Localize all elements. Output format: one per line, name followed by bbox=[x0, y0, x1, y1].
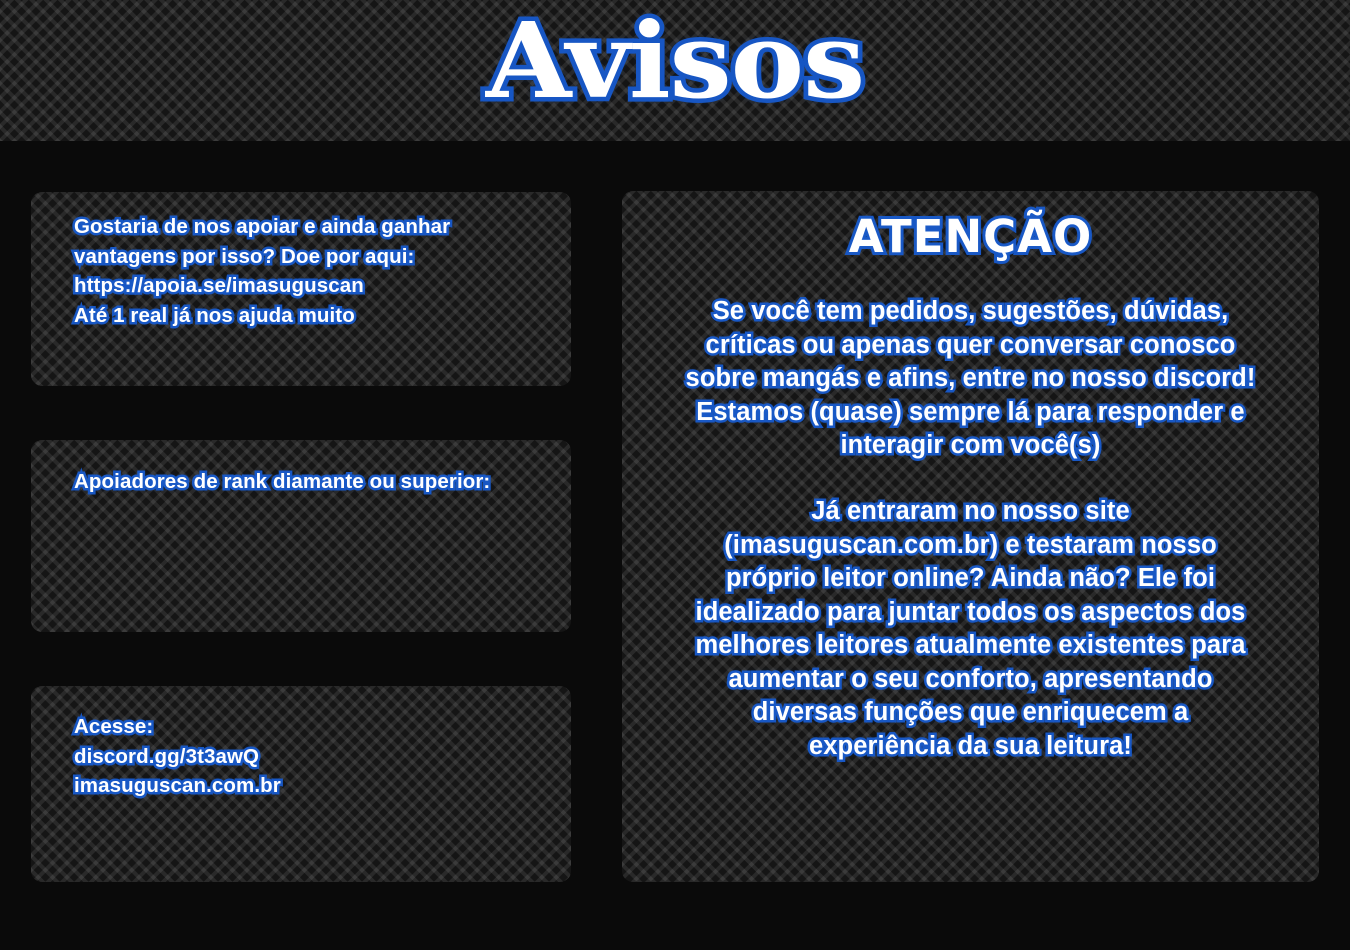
attention-p1-line-1: Se você tem pedidos, sugestões, dúvidas, bbox=[640, 295, 1301, 329]
attention-p2-line-5: melhores leitores atualmente existentes … bbox=[640, 629, 1301, 663]
backers-text-block: Apoiadores de rank diamante ou superior: bbox=[74, 467, 555, 497]
support-panel: Gostaria de nos apoiar e ainda ganhar va… bbox=[31, 192, 571, 386]
page-title: Avisos bbox=[0, 2, 1350, 120]
attention-p1-line-4: Estamos (quase) sempre lá para responder… bbox=[640, 396, 1301, 430]
attention-p1-line-3: sobre mangás e afins, entre no nosso dis… bbox=[640, 362, 1301, 396]
access-links-panel: Acesse: discord.gg/3t3awQ imasuguscan.co… bbox=[31, 686, 571, 882]
attention-paragraph-2: Já entraram no nosso site (imasuguscan.c… bbox=[640, 495, 1301, 763]
attention-p2-line-7: diversas funções que enriquecem a bbox=[640, 696, 1301, 730]
attention-panel: ATENÇÃO Se você tem pedidos, sugestões, … bbox=[622, 191, 1319, 882]
announcements-page: Avisos Gostaria de nos apoiar e ainda ga… bbox=[0, 0, 1350, 950]
diamond-backers-panel: Apoiadores de rank diamante ou superior: bbox=[31, 440, 571, 632]
attention-p2-line-3: próprio leitor online? Ainda não? Ele fo… bbox=[640, 562, 1301, 596]
access-link-website[interactable]: imasuguscan.com.br bbox=[74, 771, 555, 801]
support-line-2: vantagens por isso? Doe por aqui: bbox=[74, 242, 555, 272]
support-link-apoiase[interactable]: https://apoia.se/imasuguscan bbox=[74, 271, 555, 301]
attention-p2-line-8: experiência da sua leitura! bbox=[640, 730, 1301, 764]
attention-p1-line-2: críticas ou apenas quer conversar conosc… bbox=[640, 329, 1301, 363]
support-text-block: Gostaria de nos apoiar e ainda ganhar va… bbox=[74, 212, 555, 330]
attention-paragraph-1: Se você tem pedidos, sugestões, dúvidas,… bbox=[640, 295, 1301, 463]
attention-p2-line-2: (imasuguscan.com.br) e testaram nosso bbox=[640, 529, 1301, 563]
access-text-block: Acesse: discord.gg/3t3awQ imasuguscan.co… bbox=[74, 712, 555, 801]
attention-heading: ATENÇÃO bbox=[622, 209, 1319, 264]
attention-p1-line-5: interagir com você(s) bbox=[640, 429, 1301, 463]
attention-p2-line-6: aumentar o seu conforto, apresentando bbox=[640, 663, 1301, 697]
support-line-4: Até 1 real já nos ajuda muito bbox=[74, 301, 555, 331]
backers-heading: Apoiadores de rank diamante ou superior: bbox=[74, 467, 555, 497]
support-line-1: Gostaria de nos apoiar e ainda ganhar bbox=[74, 212, 555, 242]
attention-p2-line-4: idealizado para juntar todos os aspectos… bbox=[640, 596, 1301, 630]
page-header-band: Avisos bbox=[0, 0, 1350, 141]
attention-p2-line-1: Já entraram no nosso site bbox=[640, 495, 1301, 529]
access-link-discord[interactable]: discord.gg/3t3awQ bbox=[74, 742, 555, 772]
access-heading: Acesse: bbox=[74, 712, 555, 742]
